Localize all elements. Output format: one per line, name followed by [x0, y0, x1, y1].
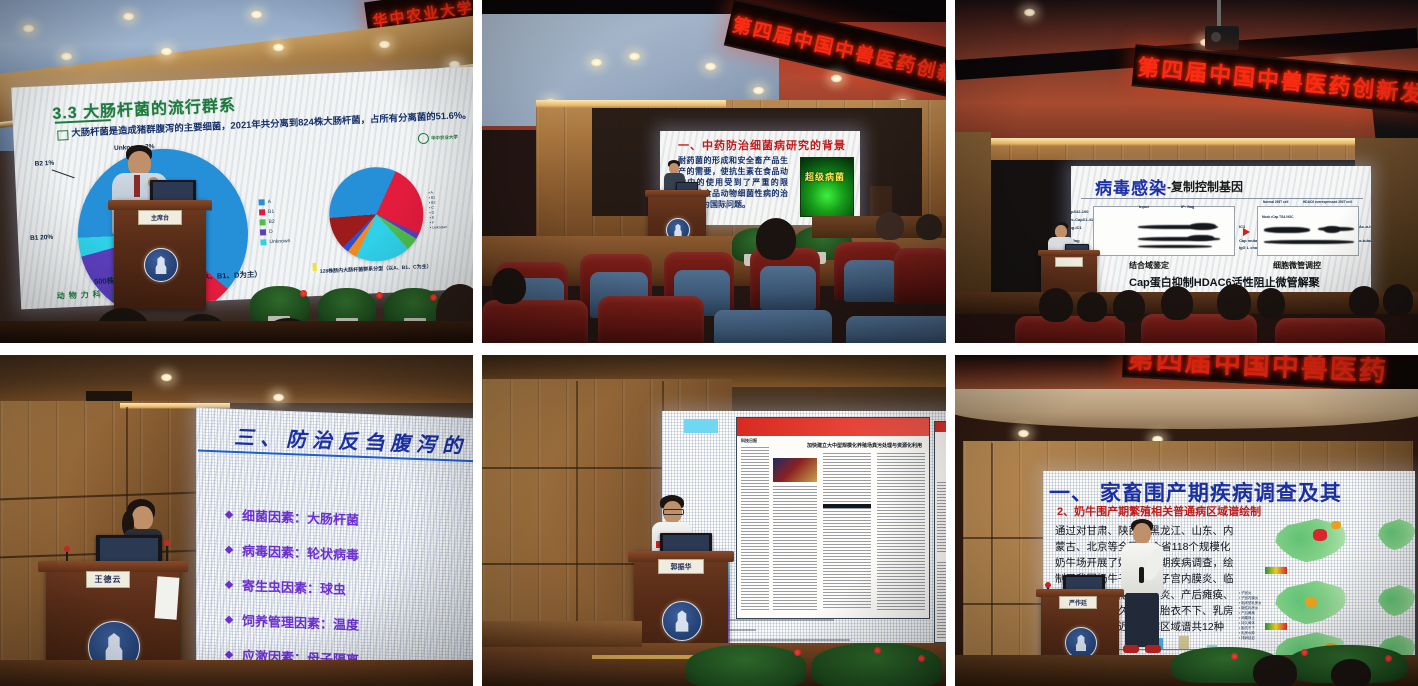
- photo-panel-5: 科技日报 加快建立大中型规模化养殖场粪污处理与资源化利用 学术·教育: [482, 355, 946, 686]
- legend-swatch-a: [259, 199, 265, 205]
- pie-label-b2: B2 1%: [35, 160, 55, 169]
- downlight-icon: [704, 62, 717, 71]
- bullet-text: 病毒因素：轮状病毒: [242, 540, 359, 563]
- legend-swatch-b1: [259, 209, 265, 215]
- logo-ring-icon: [418, 133, 429, 144]
- led-video-wall: 三、防治反刍腹泻的 细菌因素：大肠杆菌 病毒因素：轮状病毒 寄生虫因素：球虫 饲…: [196, 407, 473, 680]
- auditorium-seat: [482, 300, 588, 343]
- auditorium-seat: [844, 260, 898, 302]
- audience-head: [1113, 290, 1145, 322]
- chart-caption-right: 128株肠内大肠杆菌群系分型（以A、B1、C为主）: [320, 263, 432, 275]
- newspaper-text-column: [937, 482, 946, 552]
- projection-screen: 病毒感染 -复制控制基因 Capδ42-100 Myc-Capδ1-41 Fla…: [1071, 166, 1371, 292]
- slide-image-virus: 超级病菌: [800, 157, 854, 217]
- audience-head: [756, 218, 796, 260]
- legend-right-rows: ▪ A▪ B1▪ B2▪ C▪ D▪ E▪ F▪ Unknown: [428, 190, 447, 231]
- hall-ceiling: [0, 355, 473, 403]
- wall-cove-glow: [536, 100, 726, 108]
- ceiling-projector: [1205, 26, 1239, 50]
- laptop-screen: [153, 182, 193, 201]
- map-hotspot: [1305, 597, 1317, 607]
- bullet-diamond-icon: [225, 545, 233, 553]
- newspaper-masthead: 科技日报: [741, 438, 757, 444]
- flower-icon: [874, 647, 881, 654]
- list-item: 病毒因素：轮状病毒: [226, 540, 359, 564]
- blot-header-ip: IP: flag: [1181, 204, 1194, 209]
- audience-head: [916, 214, 942, 240]
- podium: 主席台: [114, 200, 206, 310]
- downlight-icon: [1023, 8, 1036, 17]
- audience-head: [492, 268, 526, 304]
- auditorium-seat: [1275, 318, 1385, 343]
- slide-title-rest: -复制控制基因: [1167, 178, 1243, 195]
- newspaper-text-column: [877, 452, 925, 610]
- speaker-shoe: [1145, 645, 1161, 653]
- china-map-figure: [1373, 581, 1415, 621]
- audience-head: [1257, 288, 1285, 318]
- blot-band: [1264, 240, 1354, 244]
- bullet-diamond-icon: [225, 615, 233, 623]
- decorative-plant: [686, 645, 806, 686]
- red-arrow-icon: [1243, 228, 1250, 236]
- flower-icon: [918, 655, 925, 662]
- podium-emblem-icon: [144, 248, 178, 282]
- blot-caption-right: 细胞微管调控: [1273, 260, 1321, 271]
- legend-swatch-b2: [259, 219, 265, 225]
- blot-header-input: Input: [1139, 204, 1149, 209]
- podium-nameplate: 郭振华: [658, 559, 704, 574]
- ceiling-arch: [955, 389, 1418, 429]
- speaker-glasses-icon: [663, 509, 684, 515]
- handheld-microphone-icon: [1139, 567, 1144, 583]
- speaker-shoe: [1123, 645, 1139, 653]
- bullet-diamond-icon: [225, 650, 233, 658]
- floor-reflection: [482, 621, 642, 647]
- legend-item-b1: B1: [259, 207, 289, 216]
- bullet-diamond-icon: [225, 510, 233, 518]
- map-legend: [1265, 567, 1287, 574]
- text-line: [714, 619, 834, 621]
- text-line: [714, 639, 850, 641]
- legend-item-a: A: [258, 197, 288, 206]
- speaker-person: [1113, 519, 1171, 655]
- audience-head: [1039, 288, 1073, 322]
- blot-marker: Ac-α-tubulin: [1359, 224, 1371, 229]
- flower-icon: [1385, 655, 1392, 662]
- newspaper-page-right: [934, 421, 946, 643]
- downlight-icon: [752, 86, 765, 95]
- legend-item-b2: B2: [259, 217, 289, 226]
- downlight-icon: [160, 373, 173, 382]
- bar: [1179, 636, 1189, 649]
- map-hotspot: [1313, 529, 1327, 541]
- podium-top-edge: [1038, 250, 1101, 256]
- downlight-icon: [378, 40, 391, 49]
- legend-label-a: A: [267, 198, 271, 206]
- blot-band: [1264, 227, 1310, 233]
- bullet-text: 细菌因素：大肠杆菌: [242, 505, 359, 528]
- photo-panel-2: ←安全出口→ 第四届中国中兽医药创新发展暨动物疫病防控 一、中药防治细菌病研究的…: [482, 0, 946, 343]
- podium-nameplate: 王德云: [86, 571, 130, 588]
- pie-leader-line: [52, 169, 75, 178]
- side-wall-left: [955, 132, 991, 302]
- caption-highlight: [312, 263, 316, 271]
- audience-head: [1349, 286, 1379, 316]
- slide-image-caption: 超级病菌: [805, 170, 845, 183]
- wall-seam-vertical: [991, 443, 993, 655]
- slide-title: 一、中药防治细菌病研究的背景: [678, 137, 846, 153]
- bullet-diamond-icon: [225, 580, 233, 588]
- western-blot-right: Mock rCap TSA NOC: [1257, 206, 1359, 256]
- newspaper-page: 科技日报 加快建立大中型规模化养殖场粪污处理与资源化利用: [736, 417, 930, 619]
- downlight-icon: [22, 24, 35, 33]
- downlight-icon: [160, 47, 173, 56]
- podium-paper: [155, 576, 180, 619]
- audience-head: [876, 212, 904, 240]
- flower-icon: [794, 649, 801, 656]
- list-item: 寄生虫因素：球虫: [226, 575, 359, 599]
- newspaper-text-column: [937, 562, 946, 638]
- newspaper-masthead-band: [935, 422, 946, 432]
- podium-top-edge: [645, 190, 710, 197]
- stage-floor: [0, 660, 473, 686]
- legend-label-unknown: Unknown: [269, 237, 290, 246]
- projection-screen: 3.3 大肠杆菌的流行群系 大肠杆菌是造成猪群腹泻的主要细菌，2021年共分离到…: [11, 67, 473, 310]
- newspaper-photo: [773, 458, 817, 482]
- title-underline: [1081, 198, 1363, 199]
- photo-panel-3: ←安全出口→ 第四届中国中兽医药创新发展 病毒感染 -复制控制基因 Capδ42…: [955, 0, 1418, 343]
- china-map-figure: [1373, 515, 1415, 555]
- audience-head: [1161, 286, 1193, 320]
- pie-legend-right: ▪ A▪ B1▪ B2▪ C▪ D▪ E▪ F▪ Unknown: [428, 190, 447, 231]
- slide-bullet-list: 细菌因素：大肠杆菌 病毒因素：轮状病毒 寄生虫因素：球虫 饲养管理因素：温度 应…: [226, 505, 359, 669]
- list-item: 饲养管理因素：温度: [226, 610, 359, 634]
- projector-lens-icon: [1211, 32, 1221, 42]
- legend-item-unknown: Unknown: [260, 237, 290, 246]
- floor-strip: [0, 321, 473, 343]
- slide-cyan-box: [684, 419, 718, 433]
- auditorium-seat: [846, 316, 946, 343]
- downlight-icon: [250, 10, 263, 19]
- photo-panel-1: 华中农业大学 3.3 大肠杆菌的流行群系 大肠杆菌是造成猪群腹泻的主要细菌，20…: [0, 0, 473, 343]
- downlight-icon: [122, 12, 135, 21]
- newspaper-subhead: [823, 504, 871, 508]
- slide-bottom-list: [714, 619, 862, 645]
- bullet-text: 饲养管理因素：温度: [242, 610, 359, 633]
- pie-label-b1: B1 20%: [30, 234, 53, 243]
- legend-label-b2: B2: [268, 218, 274, 226]
- flower-icon: [430, 294, 437, 301]
- auditorium-seat: [894, 248, 946, 304]
- photo-panel-6: 第四届中国中兽医药 一、 家畜围产期疾病调查及其 2、奶牛围产期繁殖相关普通病区…: [955, 355, 1418, 686]
- legend-item-d: D: [260, 227, 290, 236]
- downlight-icon: [60, 52, 73, 61]
- podium-top-edge: [108, 200, 211, 210]
- auditorium-seat: [1015, 316, 1125, 343]
- newspaper-text-column: [773, 486, 817, 610]
- university-logo: 华中农业大学: [418, 131, 458, 144]
- podium-nameplate: 主席台: [138, 210, 182, 225]
- audience-head: [1383, 284, 1413, 316]
- podium-emblem-icon: [662, 601, 702, 641]
- downlight-icon: [272, 43, 285, 52]
- slide-subtitle: 2、奶牛围产期繁殖相关普通病区域谱绘制: [1057, 503, 1261, 519]
- blot-marker: α-tubulin: [1359, 238, 1371, 243]
- speaker-head: [1133, 523, 1151, 544]
- downlight-icon: [590, 58, 603, 67]
- blot-label: Capδ42-100: [1071, 209, 1088, 214]
- speaker-head: [132, 506, 153, 530]
- slide-title-red: 病毒感染: [1095, 174, 1167, 199]
- flower-icon: [1301, 649, 1308, 656]
- blot-band-dark: [1324, 226, 1340, 233]
- auditorium-seat: [598, 296, 704, 343]
- newspaper-headline: 加快建立大中型规模化养殖场粪污处理与资源化利用: [807, 442, 922, 449]
- flower-icon: [300, 290, 307, 297]
- bullet-text: 寄生虫因素：球虫: [242, 575, 346, 598]
- podium-nameplate: [1055, 257, 1083, 267]
- map-hotspot: [1331, 521, 1341, 529]
- flower-icon: [376, 292, 383, 299]
- blot-right-top-header2: HDAC6 overexpressed 293T cell: [1303, 200, 1352, 204]
- downlight-icon: [272, 393, 285, 402]
- auditorium-seat: [714, 310, 832, 343]
- legend-swatch-unknown: [260, 239, 266, 245]
- university-name: 华中农业大学: [431, 134, 458, 141]
- podium-nameplate: 严作廷: [1059, 596, 1097, 609]
- blot-right-top-header: Normal 293T cell: [1263, 200, 1288, 204]
- pie-chart-right: [327, 165, 425, 263]
- downlight-icon: [628, 52, 641, 61]
- audience-head: [1253, 655, 1297, 686]
- newspaper-masthead-band: [737, 418, 929, 436]
- blot-band-dark: [1190, 223, 1216, 230]
- photo-panel-4: 三、防治反刍腹泻的 细菌因素：大肠杆菌 病毒因素：轮状病毒 寄生虫因素：球虫 饲…: [0, 355, 473, 686]
- legend-label-d: D: [269, 228, 273, 236]
- auditorium-seat: [760, 266, 816, 310]
- map-legend: [1265, 623, 1287, 630]
- blot-right-header: Mock rCap TSA NOC: [1262, 215, 1293, 219]
- list-item: 细菌因素：大肠杆菌: [226, 505, 359, 529]
- legend-swatch-d: [260, 229, 266, 235]
- pie-legend: A B1 B2 D Unknown: [258, 197, 290, 248]
- downlight-icon: [1017, 429, 1030, 438]
- audience-head: [1217, 284, 1251, 320]
- blot-band: [1138, 245, 1212, 248]
- blot-caption-left: 结合域鉴定: [1129, 260, 1169, 271]
- bullet-square-icon: [57, 130, 68, 140]
- blot-band-dark: [1188, 235, 1214, 241]
- wall-cove-glow: [981, 138, 1391, 146]
- flower-icon: [1231, 653, 1238, 660]
- audience-head: [1077, 292, 1107, 322]
- speaker-tie: [134, 175, 140, 197]
- legend-label-b1: B1: [268, 208, 274, 216]
- speaker-legs: [1125, 593, 1159, 647]
- newspaper-text-column: [823, 508, 871, 608]
- audience-head: [1331, 659, 1371, 686]
- downlight-icon: [830, 74, 843, 83]
- western-blot-left: [1093, 206, 1235, 256]
- newspaper-text-column: [823, 452, 871, 502]
- newspaper-text-column: [741, 446, 769, 610]
- photo-collage: 华中农业大学 3.3 大肠杆菌的流行群系 大肠杆菌是造成猪群腹泻的主要细菌，20…: [0, 0, 1418, 686]
- map-series-legend: ▪ 子宫炎▪ 子宫内膜炎▪ 临床型乳房炎▪ 隐性乳房炎▪ 产后瘫痪▪ 卵巢静止▪…: [1239, 591, 1262, 641]
